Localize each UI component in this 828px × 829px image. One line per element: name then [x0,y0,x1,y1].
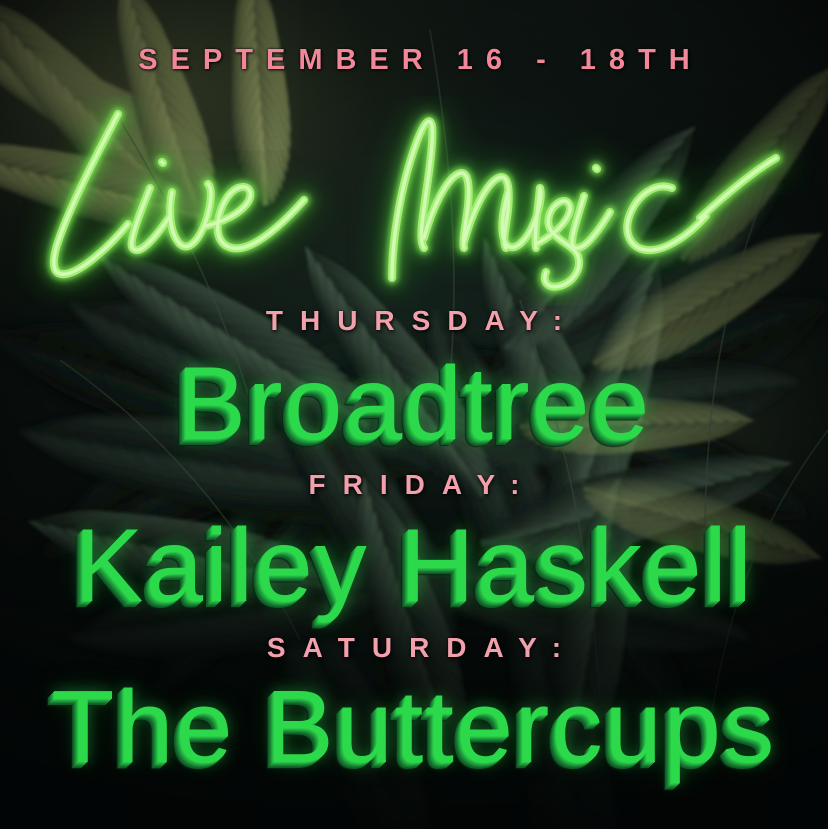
day-label-thursday: THURSDAY: [0,305,828,337]
date-range-text: SEPTEMBER 16 - 18TH [0,44,828,77]
day-label-saturday: SATURDAY: [0,632,828,664]
poster-canvas: SEPTEMBER 16 - 18TH [0,0,828,829]
artist-name-friday: Kailey Haskell [0,514,828,618]
artist-name-thursday: Broadtree [0,352,828,456]
artist-name-saturday: The Buttercups [0,676,828,779]
poster-content: SEPTEMBER 16 - 18TH [0,0,828,829]
day-label-friday: FRIDAY: [0,469,828,501]
neon-headline [0,96,828,306]
